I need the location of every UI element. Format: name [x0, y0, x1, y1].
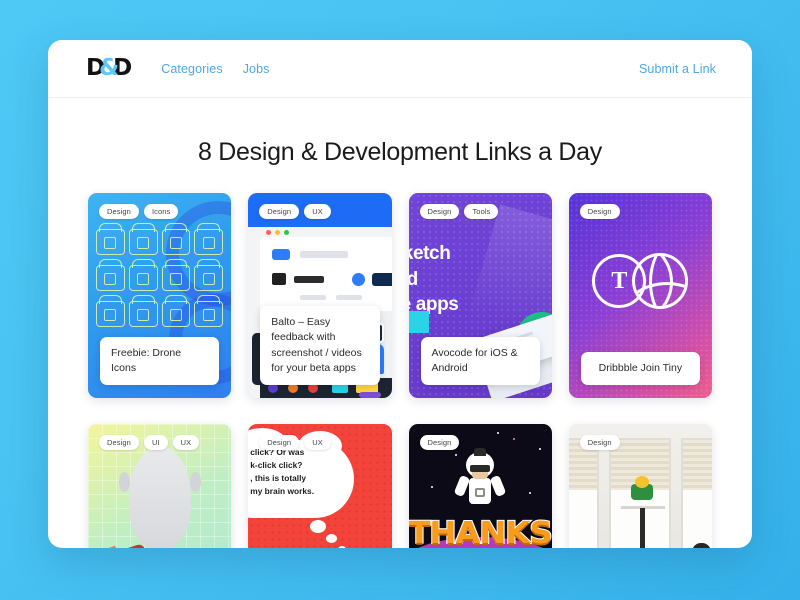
drone-icon — [96, 229, 125, 255]
star — [497, 432, 499, 434]
navbar: D&D Categories Jobs Submit a Link — [48, 40, 752, 98]
tag-design[interactable]: Design — [580, 204, 620, 219]
drone-icon — [162, 265, 191, 291]
office-window — [569, 438, 599, 548]
tag-tools[interactable]: Tools — [464, 204, 498, 219]
tag-design[interactable]: Design — [580, 435, 620, 450]
submit-a-link-button[interactable]: Submit a Link — [639, 62, 716, 76]
office-window — [681, 438, 712, 548]
robot-character — [457, 452, 503, 514]
link-card-best-and-worst[interactable]: Design UI UX The Best And — [88, 424, 231, 548]
mock-ui-block — [300, 251, 348, 258]
mock-ui-block — [352, 273, 365, 286]
standing-desk-pole — [640, 508, 645, 548]
site-logo[interactable]: D&D — [86, 57, 131, 80]
window-dot-red — [266, 230, 271, 235]
drone-icon — [194, 265, 223, 291]
tag-ux[interactable]: UX — [173, 435, 200, 450]
dribbble-logo-lockup: T — [569, 253, 712, 309]
tag-icons[interactable]: Icons — [144, 204, 178, 219]
link-card-avocode[interactable]: Sketch oid ve apps Design Tools Avocode … — [409, 193, 552, 398]
star — [513, 438, 515, 440]
page-title: 8 Design & Development Links a Day — [48, 138, 752, 167]
artwork-word-thanks: THANKS — [409, 516, 552, 548]
drone-icon — [162, 301, 191, 327]
artwork-headline: Sketch oid ve apps — [409, 241, 459, 318]
person-working — [660, 545, 712, 548]
card-tags: Design UX — [259, 204, 331, 219]
nav-link-jobs[interactable]: Jobs — [243, 62, 270, 76]
link-card-office-photo[interactable]: Design — [569, 424, 712, 548]
links-grid-row-2: Design UI UX The Best And click? Or was … — [48, 424, 752, 548]
card-title: Avocode for iOS & Android — [421, 337, 540, 385]
window-dot-green — [284, 230, 289, 235]
tag-design[interactable]: Design — [259, 435, 299, 450]
mock-ui-block — [372, 273, 391, 286]
drone-icon — [129, 301, 158, 327]
head-ear-right — [190, 472, 201, 492]
mock-ui-block — [272, 273, 286, 285]
tag-design[interactable]: Design — [99, 204, 139, 219]
card-tags: Design Icons — [99, 204, 178, 219]
bubble-tail-dot — [338, 546, 346, 548]
tag-ui[interactable]: UI — [144, 435, 168, 450]
drone-icon-grid — [96, 229, 223, 327]
robot-cap — [474, 448, 486, 456]
card-tags: Design — [580, 435, 620, 450]
link-card-balto[interactable]: Design UX Balto – Easy feedback with scr… — [248, 193, 391, 398]
nav-links: Categories Jobs — [161, 62, 269, 76]
nav-link-categories[interactable]: Categories — [161, 62, 222, 76]
mock-toolbar-item — [332, 384, 348, 393]
robot-body — [469, 478, 491, 504]
card-tags: Design UX — [259, 435, 331, 450]
links-grid: Design Icons Freebie: Drone Icons — [48, 193, 752, 398]
robot-visor — [470, 465, 490, 472]
person-shoes — [359, 392, 381, 398]
hanging-plant — [631, 484, 653, 500]
browser-panel: D&D Categories Jobs Submit a Link 8 Desi… — [48, 40, 752, 548]
drone-icon — [194, 301, 223, 327]
tag-ux[interactable]: UX — [304, 204, 331, 219]
card-title: Freebie: Drone Icons — [100, 337, 219, 385]
3d-head-model — [129, 446, 191, 548]
robot-arm-left — [454, 475, 471, 497]
drone-icon — [96, 301, 125, 327]
tag-design[interactable]: Design — [259, 204, 299, 219]
star — [539, 448, 541, 450]
tag-design[interactable]: Design — [420, 435, 460, 450]
card-title: Balto – Easy feedback with screenshot / … — [260, 306, 379, 385]
dribbble-seam — [649, 253, 688, 309]
window-dot-yellow — [275, 230, 280, 235]
tag-ux[interactable]: UX — [304, 435, 331, 450]
robot-chest-panel — [475, 488, 485, 497]
mock-ui-block — [300, 295, 326, 300]
link-card-dribbble-join-tiny[interactable]: T Design Dribbble Join Tiny — [569, 193, 712, 398]
drone-icon — [162, 229, 191, 255]
mock-ui-block — [336, 295, 362, 300]
artwork-accent-chip — [409, 311, 429, 333]
tag-design[interactable]: Design — [420, 204, 460, 219]
link-card-design-for-proximity[interactable]: click? Or was k-click click? , this is t… — [248, 424, 391, 548]
star — [431, 486, 433, 488]
drone-icon — [96, 265, 125, 291]
navbar-right: Submit a Link — [639, 60, 716, 78]
window-blind — [683, 440, 712, 490]
robot-chin — [472, 472, 488, 479]
mock-window-dots — [266, 230, 289, 235]
card-tags: Design — [580, 204, 620, 219]
tag-design[interactable]: Design — [99, 435, 139, 450]
drone-icon — [129, 229, 158, 255]
star — [529, 492, 531, 494]
drone-icon — [194, 229, 223, 255]
thought-bubble-text: click? Or was k-click click? , this is t… — [250, 446, 380, 498]
logo-ampersand: & — [99, 57, 118, 80]
card-tags: Design — [420, 435, 460, 450]
head-ear-left — [119, 472, 130, 492]
card-tags: Design UI UX — [99, 435, 199, 450]
link-card-freebie-drone-icons[interactable]: Design Icons Freebie: Drone Icons — [88, 193, 231, 398]
card-tags: Design Tools — [420, 204, 499, 219]
drone-icon — [129, 265, 158, 291]
mock-ui-block — [294, 276, 324, 283]
card-title: Dribbble Join Tiny — [581, 352, 700, 385]
mock-ui-block — [272, 249, 290, 260]
link-card-thanks-for-the-internship[interactable]: THANKS FOR THE INTERNSHIP Design — [409, 424, 552, 548]
dribbble-ball-icon — [632, 253, 688, 309]
